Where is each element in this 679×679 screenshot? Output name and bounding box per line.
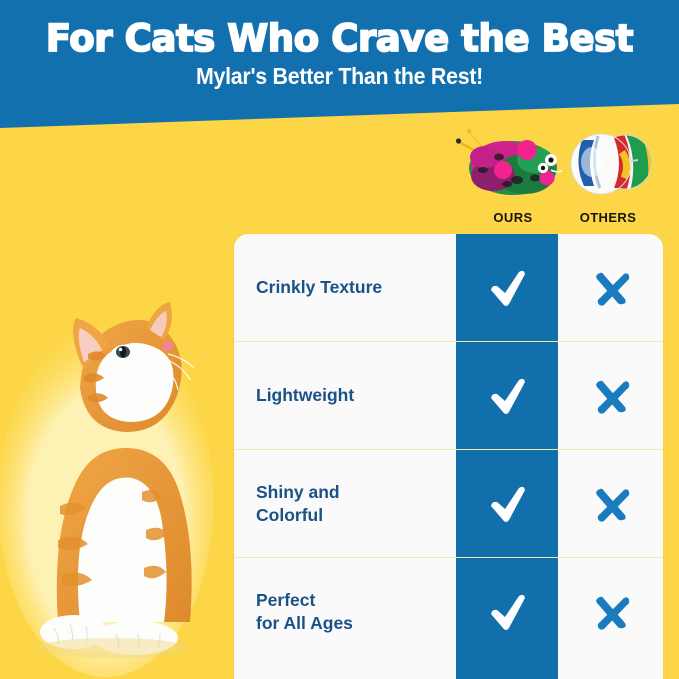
comparison-rows: Crinkly Texture Lightweight bbox=[234, 234, 663, 679]
check-icon bbox=[483, 588, 531, 636]
others-product-image bbox=[568, 122, 656, 206]
feature-label-line2: for All Ages bbox=[256, 613, 353, 633]
feature-label-line1: Crinkly Texture bbox=[256, 277, 382, 297]
feature-label: Lightweight bbox=[234, 384, 456, 406]
kitten-photo bbox=[0, 292, 216, 679]
cross-icon bbox=[589, 374, 633, 418]
check-icon bbox=[483, 480, 531, 528]
feature-label-line1: Shiny and bbox=[256, 482, 340, 502]
ours-cell bbox=[456, 588, 558, 636]
feature-label-line1: Lightweight bbox=[256, 385, 354, 405]
feature-label: Crinkly Texture bbox=[234, 276, 456, 298]
cross-icon bbox=[589, 266, 633, 310]
feature-label-line2: Colorful bbox=[256, 505, 323, 525]
cross-icon bbox=[589, 590, 633, 634]
feature-label: Shiny and Colorful bbox=[234, 481, 456, 526]
table-row: Crinkly Texture bbox=[234, 234, 663, 342]
page-subtitle: Mylar's Better Than the Rest! bbox=[24, 63, 655, 90]
others-cell bbox=[558, 374, 663, 418]
check-icon bbox=[483, 264, 531, 312]
ours-cell bbox=[456, 264, 558, 312]
ours-cell bbox=[456, 480, 558, 528]
table-row: Perfect for All Ages bbox=[234, 558, 663, 665]
others-cell bbox=[558, 482, 663, 526]
others-cell bbox=[558, 590, 663, 634]
infographic-canvas: For Cats Who Crave the Best Mylar's Bett… bbox=[0, 0, 679, 679]
page-title: For Cats Who Crave the Best bbox=[0, 17, 679, 60]
ours-cell bbox=[456, 372, 558, 420]
table-row: Lightweight bbox=[234, 342, 663, 450]
table-row: Shiny and Colorful bbox=[234, 450, 663, 558]
feature-label: Perfect for All Ages bbox=[234, 589, 456, 634]
ours-product-image bbox=[455, 124, 573, 202]
cross-icon bbox=[589, 482, 633, 526]
comparison-table: Crinkly Texture Lightweight bbox=[234, 234, 663, 679]
others-cell bbox=[558, 266, 663, 310]
feature-label-line1: Perfect bbox=[256, 590, 315, 610]
column-header-others: OTHERS bbox=[548, 210, 668, 225]
check-icon bbox=[483, 372, 531, 420]
